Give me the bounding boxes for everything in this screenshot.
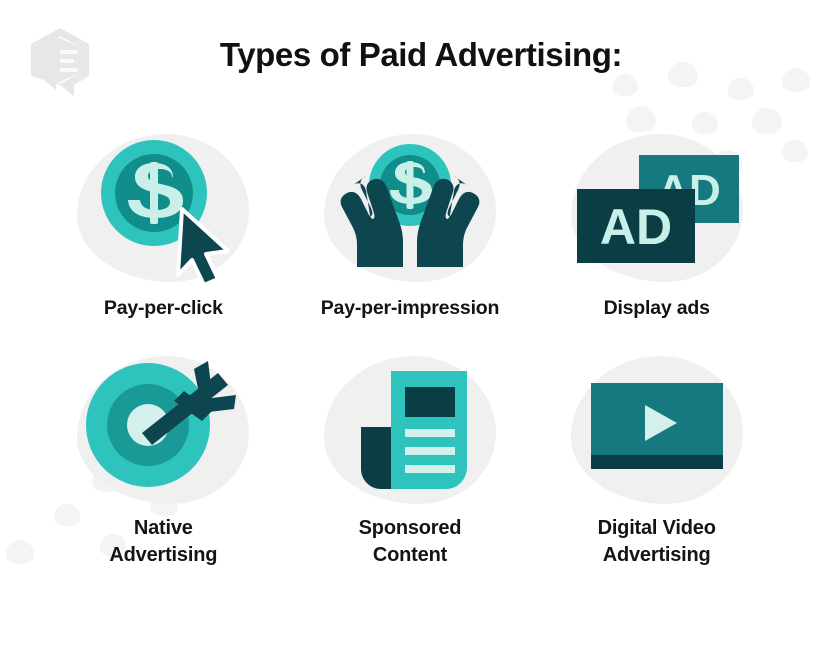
label-line-2: Advertising [598, 542, 716, 568]
decor-blob [612, 74, 638, 96]
newspaper-text-line [405, 465, 455, 473]
item-sponsored-content[interactable]: Sponsored Content [287, 353, 534, 568]
newspaper-text-line [405, 429, 455, 437]
icon-wrap-pay-per-click [68, 128, 258, 288]
cursor-arrow-shape [178, 209, 228, 283]
item-native-advertising[interactable]: Native Advertising [40, 353, 287, 568]
newspaper-document-icon [325, 355, 495, 505]
infographic-canvas: Types of Paid Advertising: Pay-per-click [0, 0, 820, 653]
decor-blob [6, 540, 34, 564]
target-dart-icon [76, 355, 251, 505]
icon-wrap-digital-video-advertising [562, 353, 752, 507]
item-label-sponsored-content: Sponsored Content [359, 515, 462, 568]
newspaper-headline-block [405, 387, 455, 417]
decor-blob [782, 140, 808, 162]
decor-blob [728, 78, 754, 100]
item-label-display-ads: Display ads [604, 296, 710, 322]
item-label-pay-per-impression: Pay-per-impression [321, 296, 499, 322]
ad-banner-front-text: AD [600, 199, 672, 255]
item-pay-per-click[interactable]: Pay-per-click [40, 128, 287, 333]
icon-wrap-sponsored-content [315, 353, 505, 507]
label-line-1: Sponsored [359, 515, 462, 541]
label-line-2: Advertising [109, 542, 217, 568]
coin-dollar-cursor-icon [78, 133, 248, 283]
label-line-1: Native [109, 515, 217, 541]
item-label-digital-video-advertising: Digital Video Advertising [598, 515, 716, 568]
label-line-1: Digital Video [598, 515, 716, 541]
video-play-screen-icon [569, 355, 744, 505]
label-line-2: Content [359, 542, 462, 568]
advertising-types-grid: Pay-per-click Pay-p [40, 128, 780, 568]
newspaper-text-line [405, 447, 455, 455]
icon-wrap-pay-per-impression [315, 128, 505, 288]
page-title: Types of Paid Advertising: [0, 36, 820, 74]
ad-banners-icon: AD AD [567, 133, 747, 283]
item-display-ads[interactable]: AD AD Display ads [533, 128, 780, 333]
hands-holding-coin-icon [325, 133, 495, 283]
icon-wrap-native-advertising [68, 353, 258, 507]
video-player-bar [591, 455, 723, 469]
item-digital-video-advertising[interactable]: Digital Video Advertising [533, 353, 780, 568]
item-pay-per-impression[interactable]: Pay-per-impression [287, 128, 534, 333]
icon-wrap-display-ads: AD AD [562, 128, 752, 288]
item-label-native-advertising: Native Advertising [109, 515, 217, 568]
item-label-pay-per-click: Pay-per-click [104, 296, 223, 322]
